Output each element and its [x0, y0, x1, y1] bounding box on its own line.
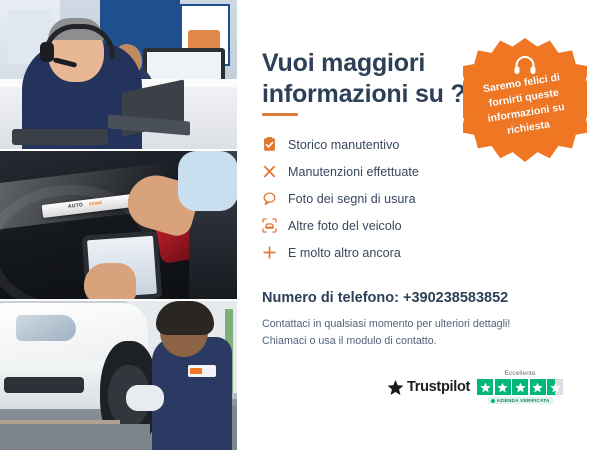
trustpilot-rating-block: Eccellente: [477, 370, 563, 404]
clipboard-check-icon: [262, 137, 288, 152]
headset-icon: [513, 55, 537, 75]
work-glove-decor: [126, 385, 164, 411]
verified-company-badge: AZIENDA VERIFICATA: [488, 397, 553, 404]
rating-label: Eccellente: [505, 370, 536, 377]
trustpilot-wordmark: Trustpilot: [407, 379, 470, 395]
feature-label: E molto altro ancora: [288, 246, 401, 260]
star-filled: [477, 379, 493, 395]
phone-number-line[interactable]: Numero di telefono: +390238583852: [262, 290, 508, 306]
feature-item-manutenzioni: Manutenzioni effettuate: [262, 158, 492, 185]
car-scan-icon: [262, 218, 288, 233]
star-filled: [495, 379, 511, 395]
title-underline-rule: [262, 113, 298, 116]
star-filled: [512, 379, 528, 395]
contact-description: Contattaci in qualsiasi momento per ulte…: [262, 316, 517, 351]
ruler-brand-text: AUTO: [68, 202, 84, 210]
feature-list: Storico manutentivo Manutenzioni effettu…: [262, 131, 492, 266]
feature-item-altro-ancora: E molto altro ancora: [262, 239, 492, 266]
photo-call-center: [0, 0, 237, 149]
star-filled: [530, 379, 546, 395]
verified-check-icon: [491, 399, 495, 403]
verified-label: AZIENDA VERIFICATA: [497, 398, 550, 403]
feature-item-altre-foto: Altre foto del veicolo: [262, 212, 492, 239]
keyboard-decor: [12, 129, 108, 145]
feature-label: Manutenzioni effettuate: [288, 165, 419, 179]
feature-item-storico: Storico manutentivo: [262, 131, 492, 158]
feature-label: Storico manutentivo: [288, 138, 399, 152]
feature-label: Foto dei segni di usura: [288, 192, 416, 206]
agent-earpad-decor: [40, 42, 54, 62]
speech-bubble-icon: [262, 191, 288, 206]
star-rating: [477, 379, 563, 395]
tools-cross-icon: [262, 164, 288, 179]
uniform-badge-decor: [188, 365, 216, 377]
trustpilot-widget[interactable]: Trustpilot Eccellente: [387, 370, 563, 404]
technician-hair-decor: [156, 301, 214, 335]
feature-label: Altre foto del veicolo: [288, 219, 402, 233]
information-request-banner: AUTOscout Vuoi maggior: [0, 0, 600, 450]
headlight-decor: [16, 315, 76, 341]
ruler-brand-accent: scout: [88, 199, 102, 207]
lift-platform-decor: [0, 424, 150, 450]
inspector-sleeve-decor: [178, 151, 237, 211]
content-panel: Vuoi maggiori informazioni su ? Saremo f…: [237, 0, 600, 450]
hand-holding-tablet-decor: [84, 263, 136, 300]
plus-icon: [262, 245, 288, 260]
star-half: [547, 379, 563, 395]
photo-car-inspection: AUTOscout: [0, 151, 237, 300]
trustpilot-star-icon: [387, 379, 404, 396]
trustpilot-logo: Trustpilot: [387, 379, 470, 396]
grille-decor: [4, 377, 84, 393]
feature-item-foto-usura: Foto dei segni di usura: [262, 185, 492, 212]
page-title: Vuoi maggiori informazioni su ?: [262, 48, 477, 111]
photo-wheel-service: [0, 301, 237, 450]
photo-column: AUTOscout: [0, 0, 237, 450]
